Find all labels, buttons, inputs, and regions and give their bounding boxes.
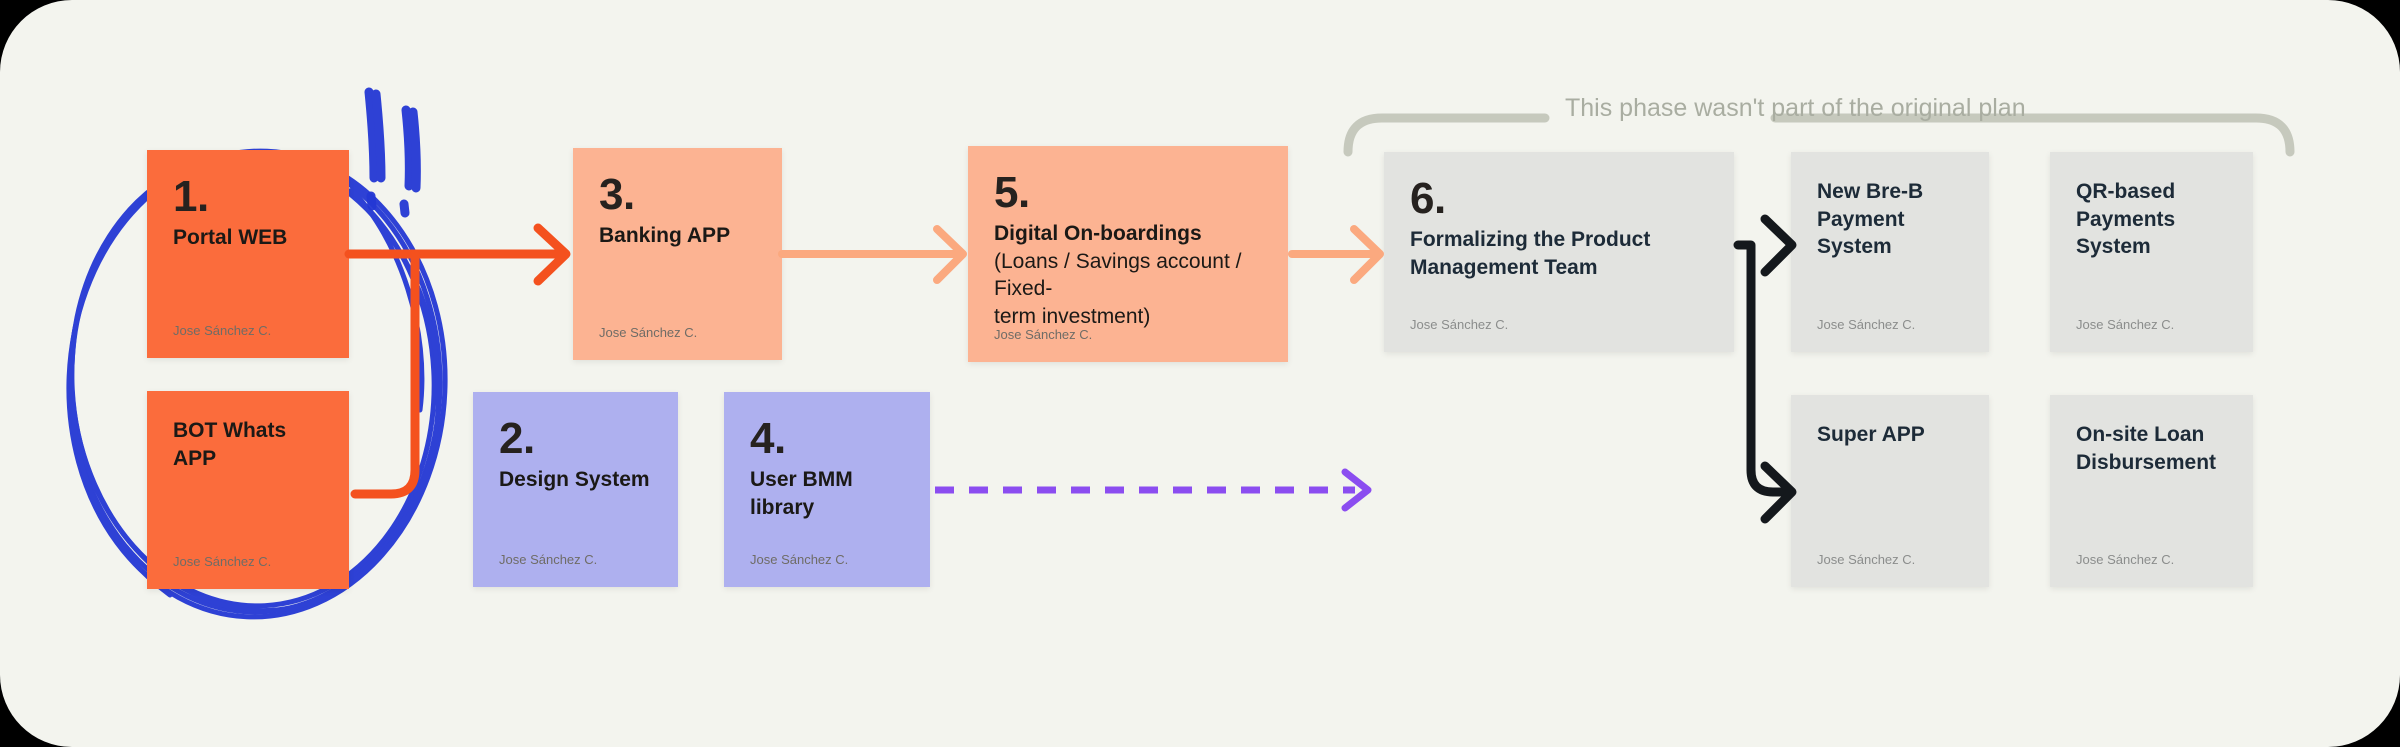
arrow-banking-to-onboardings <box>782 229 963 280</box>
card-author: Jose Sánchez C. <box>173 323 271 338</box>
card-subtitle: (Loans / Savings account / Fixed- term i… <box>994 248 1262 331</box>
card-title: Portal WEB <box>173 224 323 252</box>
arrow-formalizing-to-phase2 <box>1738 219 1792 519</box>
card-title: New Bre-B Payment System <box>1817 178 1963 261</box>
card-author: Jose Sánchez C. <box>173 554 271 569</box>
card-number: 3. <box>599 174 756 216</box>
card-title: Formalizing the Product Management Team <box>1410 226 1708 281</box>
card-digital-on-boardings[interactable]: 5. Digital On-boardings (Loans / Savings… <box>968 146 1288 362</box>
card-formalizing-product-management-team[interactable]: 6. Formalizing the Product Management Te… <box>1384 152 1734 352</box>
connector-overlay <box>0 0 2400 747</box>
card-new-bre-b-payment-system[interactable]: New Bre-B Payment System Jose Sánchez C. <box>1791 152 1989 352</box>
roadmap-board: This phase wasn't part of the original p… <box>0 0 2400 747</box>
card-portal-web[interactable]: 1. Portal WEB Jose Sánchez C. <box>147 150 349 358</box>
card-author: Jose Sánchez C. <box>1817 317 1915 332</box>
phase-bracket <box>1348 118 2290 152</box>
card-number: 1. <box>173 176 323 218</box>
card-design-system[interactable]: 2. Design System Jose Sánchez C. <box>473 392 678 587</box>
card-title: BOT Whats APP <box>173 417 323 472</box>
card-author: Jose Sánchez C. <box>994 327 1092 342</box>
dashed-arrow-bmm-library <box>935 472 1368 508</box>
card-author: Jose Sánchez C. <box>1410 317 1508 332</box>
scribble-overlay <box>0 0 2400 747</box>
card-number: 4. <box>750 418 904 460</box>
card-banking-app[interactable]: 3. Banking APP Jose Sánchez C. <box>573 148 782 360</box>
card-author: Jose Sánchez C. <box>750 552 848 567</box>
card-super-app[interactable]: Super APP Jose Sánchez C. <box>1791 395 1989 587</box>
card-author: Jose Sánchez C. <box>599 325 697 340</box>
bracket-note-label: This phase wasn't part of the original p… <box>1565 94 2026 123</box>
card-number: 2. <box>499 418 652 460</box>
card-bot-whats-app[interactable]: BOT Whats APP Jose Sánchez C. <box>147 391 349 589</box>
arrow-onboardings-to-formalizing <box>1292 229 1380 280</box>
card-author: Jose Sánchez C. <box>2076 552 2174 567</box>
card-title: Super APP <box>1817 421 1963 449</box>
card-author: Jose Sánchez C. <box>499 552 597 567</box>
card-on-site-loan-disbursement[interactable]: On-site Loan Disbursement Jose Sánchez C… <box>2050 395 2253 587</box>
card-title: On-site Loan Disbursement <box>2076 421 2227 476</box>
card-number: 5. <box>994 172 1262 214</box>
card-title: Banking APP <box>599 222 756 250</box>
blue-exclamation-marks-icon <box>369 92 416 213</box>
card-author: Jose Sánchez C. <box>1817 552 1915 567</box>
card-title: QR-based Payments System <box>2076 178 2227 261</box>
card-qr-based-payments-system[interactable]: QR-based Payments System Jose Sánchez C. <box>2050 152 2253 352</box>
card-title: Digital On-boardings <box>994 220 1262 248</box>
card-user-bmm-library[interactable]: 4. User BMM library Jose Sánchez C. <box>724 392 930 587</box>
card-number: 6. <box>1410 178 1708 220</box>
card-title: User BMM library <box>750 466 904 521</box>
card-author: Jose Sánchez C. <box>2076 317 2174 332</box>
card-title: Design System <box>499 466 652 494</box>
